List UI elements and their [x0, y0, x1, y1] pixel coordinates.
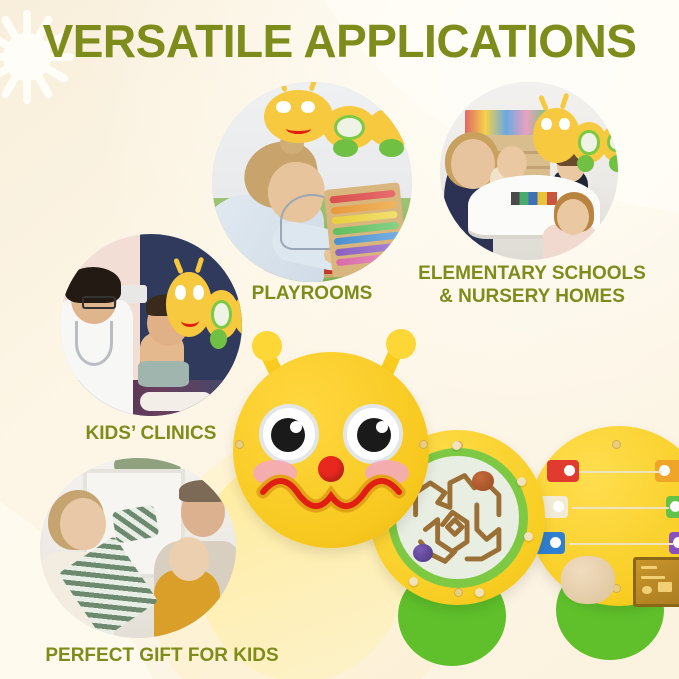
bead — [452, 441, 461, 450]
cheek-right — [365, 460, 409, 486]
connector-wire — [569, 543, 673, 545]
match-block-red[interactable] — [547, 460, 579, 482]
promo-banner: VERSATILE APPLICATIONS — [0, 0, 679, 679]
screw — [419, 440, 428, 449]
connector-wire — [579, 471, 662, 473]
eye-left[interactable] — [259, 404, 319, 464]
page-title: VERSATILE APPLICATIONS — [0, 14, 679, 68]
caption-gift: PERFECT GIFT FOR KIDS — [22, 644, 302, 667]
screw — [454, 588, 463, 597]
caterpillar-wall-decal — [533, 103, 618, 174]
caption-schools: ELEMENTARY SCHOOLS & NURSERY HOMES — [412, 262, 652, 308]
bead — [517, 477, 526, 486]
screw — [612, 440, 621, 449]
playroom-photo — [212, 82, 412, 282]
clinic-photo — [60, 234, 242, 416]
screw — [235, 440, 244, 449]
eye-right[interactable] — [343, 404, 403, 464]
caterpillar-wall-decal — [166, 267, 242, 351]
bead — [475, 588, 484, 597]
gift-photo — [40, 458, 236, 638]
nose[interactable] — [318, 456, 344, 482]
antenna-knob-right — [386, 329, 416, 359]
bead — [409, 577, 418, 586]
caterpillar-wall-decal — [264, 86, 412, 154]
latch-segment — [529, 426, 679, 606]
antenna-knob-left — [252, 331, 282, 361]
brass-latch-panel[interactable] — [633, 557, 679, 607]
wooden-knob[interactable] — [561, 556, 615, 604]
maze-ball-red[interactable] — [472, 471, 494, 491]
bead — [524, 532, 533, 541]
classroom-photo — [440, 82, 618, 260]
connector-wire — [572, 507, 669, 509]
wavy-wire-mouth[interactable] — [233, 352, 429, 548]
cheek-left — [253, 460, 297, 486]
